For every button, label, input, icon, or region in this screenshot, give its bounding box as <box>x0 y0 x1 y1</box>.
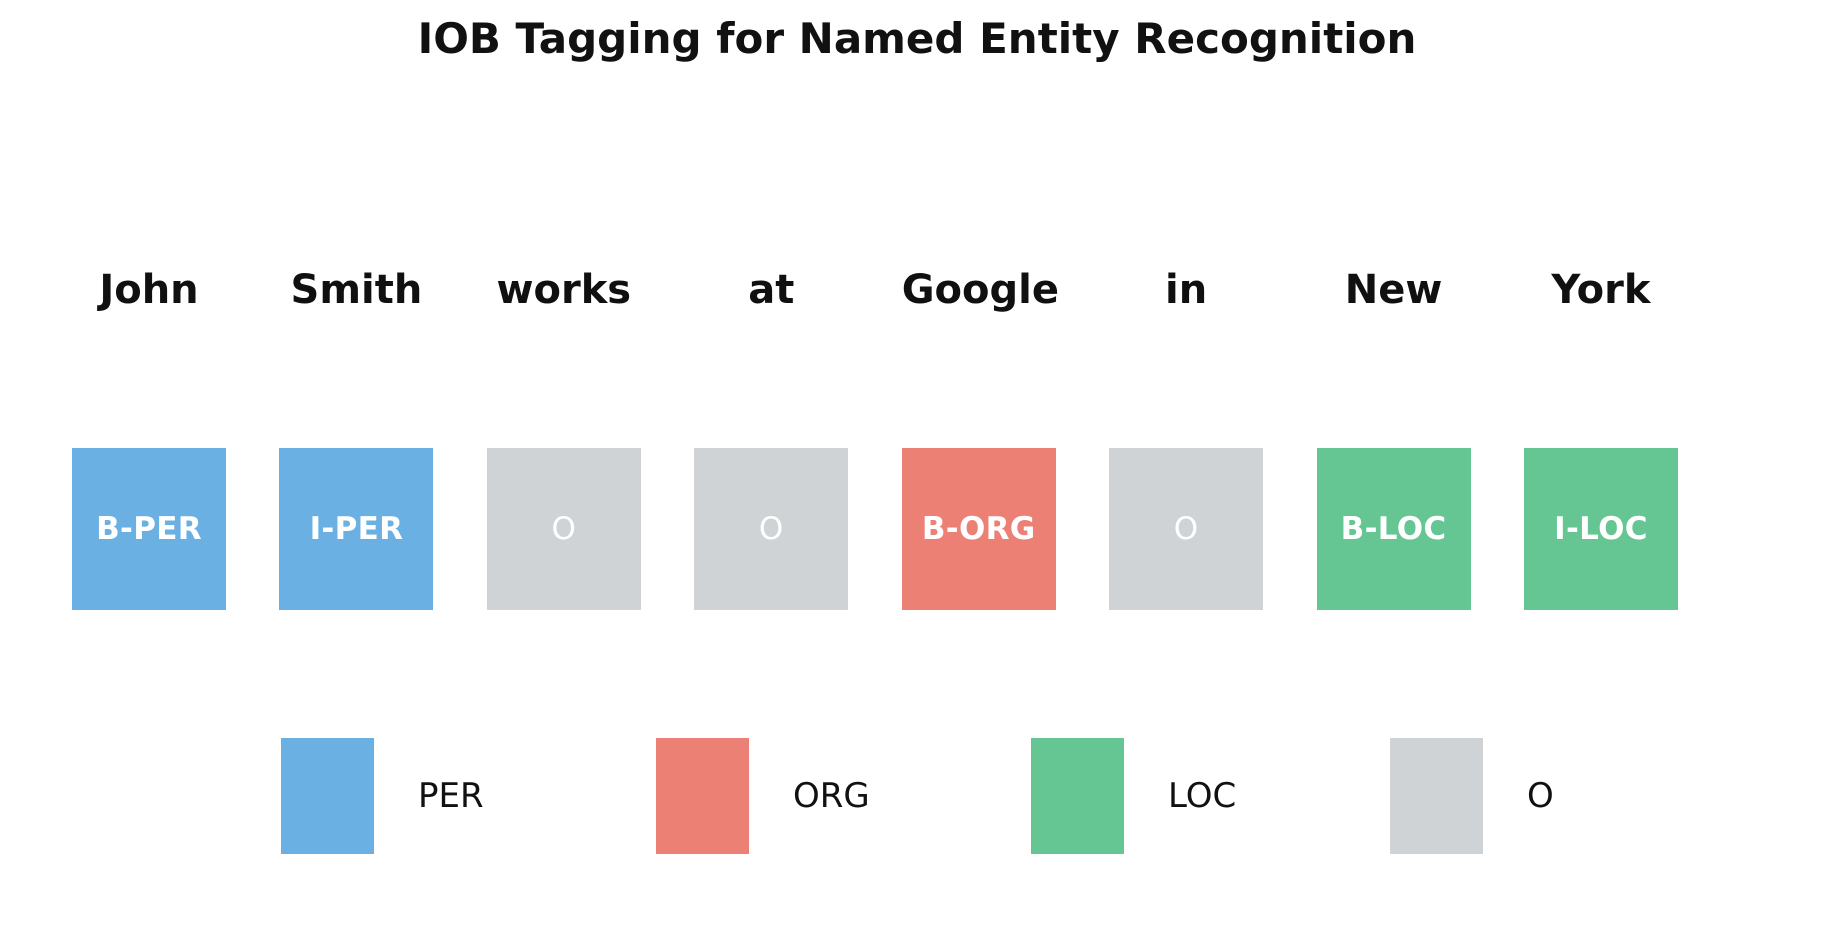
tag-box[interactable]: B-LOC <box>1317 448 1471 610</box>
tag-box[interactable]: B-PER <box>72 448 226 610</box>
tag-box[interactable]: B-ORG <box>902 448 1056 610</box>
token-column[interactable]: SmithI-PER <box>279 260 433 610</box>
token-word: John <box>72 260 226 320</box>
tag-box[interactable]: I-PER <box>279 448 433 610</box>
legend-item[interactable]: PER <box>281 738 484 854</box>
tag-label: B-LOC <box>1341 511 1447 547</box>
tag-label: O <box>1174 511 1199 547</box>
legend: PERORGLOCO <box>281 738 1701 858</box>
token-word: in <box>1109 260 1263 320</box>
tag-label: B-ORG <box>922 511 1036 547</box>
legend-item[interactable]: LOC <box>1031 738 1236 854</box>
legend-swatch <box>281 738 374 854</box>
tag-box[interactable]: O <box>694 448 848 610</box>
tag-label: B-PER <box>96 511 202 547</box>
token-column[interactable]: inO <box>1109 260 1263 610</box>
legend-label: LOC <box>1168 776 1236 816</box>
page-title: IOB Tagging for Named Entity Recognition <box>0 14 1834 64</box>
token-sequence: JohnB-PERSmithI-PERworksOatOGoogleB-ORGi… <box>72 260 1678 620</box>
legend-item[interactable]: O <box>1390 738 1554 854</box>
token-word: York <box>1524 260 1678 320</box>
tag-box[interactable]: O <box>1109 448 1263 610</box>
tag-label: I-PER <box>310 511 404 547</box>
tag-label: I-LOC <box>1554 511 1648 547</box>
legend-label: ORG <box>793 776 870 816</box>
legend-swatch <box>1031 738 1124 854</box>
token-column[interactable]: JohnB-PER <box>72 260 226 610</box>
legend-label: O <box>1527 776 1554 816</box>
token-column[interactable]: NewB-LOC <box>1317 260 1471 610</box>
tag-label: O <box>759 511 784 547</box>
legend-swatch <box>1390 738 1483 854</box>
token-word: at <box>694 260 848 320</box>
token-column[interactable]: YorkI-LOC <box>1524 260 1678 610</box>
tag-label: O <box>551 511 576 547</box>
token-column[interactable]: GoogleB-ORG <box>902 260 1056 610</box>
token-word: New <box>1317 260 1471 320</box>
legend-swatch <box>656 738 749 854</box>
legend-item[interactable]: ORG <box>656 738 870 854</box>
token-word: Smith <box>279 260 433 320</box>
token-column[interactable]: worksO <box>487 260 641 610</box>
legend-label: PER <box>418 776 484 816</box>
token-column[interactable]: atO <box>694 260 848 610</box>
tag-box[interactable]: O <box>487 448 641 610</box>
token-word: Google <box>902 260 1056 320</box>
tag-box[interactable]: I-LOC <box>1524 448 1678 610</box>
token-word: works <box>487 260 641 320</box>
